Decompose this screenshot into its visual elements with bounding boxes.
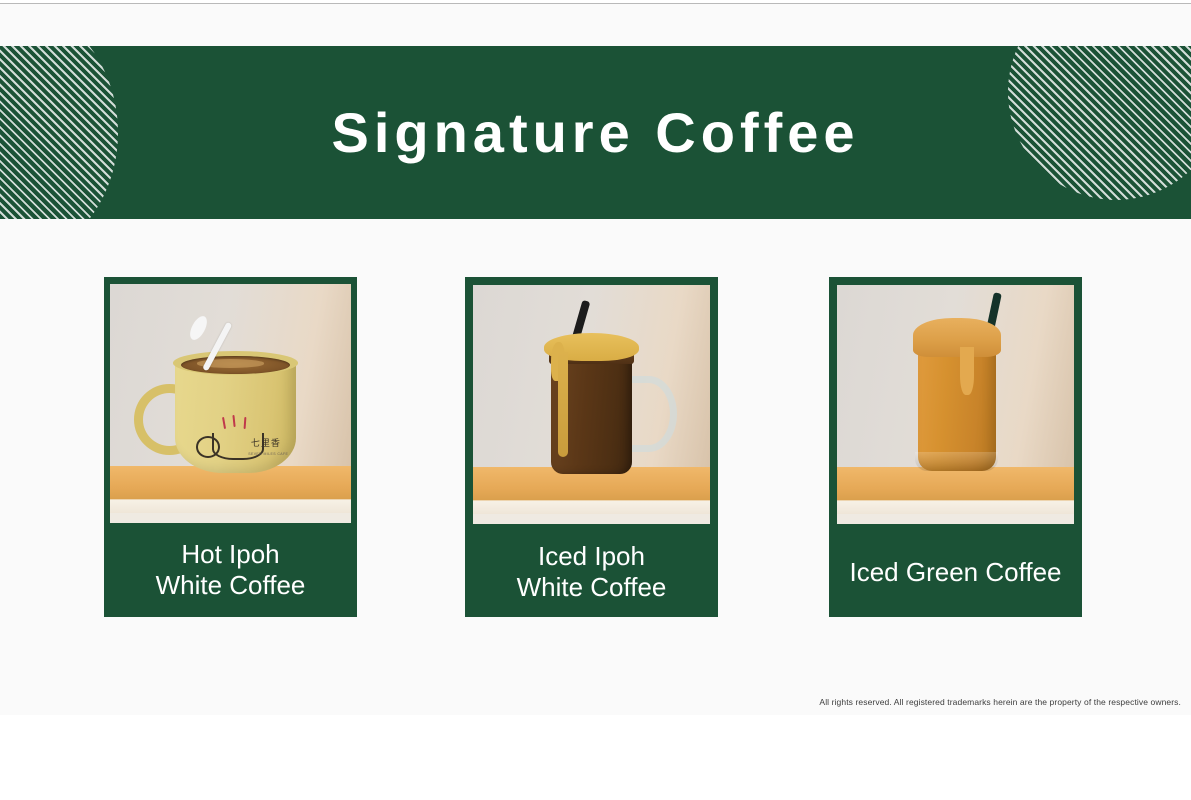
photo-scene: 七里香 SEVEN MILES CAFE <box>110 284 351 523</box>
foam-drip <box>558 352 568 457</box>
page-title: Signature Coffee <box>0 46 1191 219</box>
slide-canvas: Signature Coffee <box>0 3 1191 715</box>
copyright-footer: All rights reserved. All registered trad… <box>0 697 1181 707</box>
photo-scene <box>473 285 710 524</box>
product-photo-iced-green-coffee <box>837 285 1074 524</box>
product-label-iced-ipoh-white-coffee: Iced Ipoh White Coffee <box>465 531 718 613</box>
logo-chinese-text: 七里香 <box>251 436 287 449</box>
photo-scene <box>837 285 1074 524</box>
steam-line-icon <box>222 417 226 429</box>
product-card-grid: 七里香 SEVEN MILES CAFE Hot Ipoh White Coff… <box>0 277 1191 621</box>
product-photo-hot-ipoh-white-coffee: 七里香 SEVEN MILES CAFE <box>110 284 351 523</box>
foam-drip <box>960 347 974 395</box>
product-photo-iced-ipoh-white-coffee <box>473 285 710 524</box>
wooden-board <box>110 466 351 514</box>
foam-topping <box>913 318 1001 356</box>
product-label-line: Iced Green Coffee <box>850 557 1062 588</box>
product-label-hot-ipoh-white-coffee: Hot Ipoh White Coffee <box>104 529 357 611</box>
header-band: Signature Coffee <box>0 46 1191 219</box>
glass-base <box>915 452 998 471</box>
wooden-board <box>473 467 710 515</box>
logo-sub-text: SEVEN MILES CAFE <box>248 452 295 456</box>
mug-brand-logo: 七里香 SEVEN MILES CAFE <box>206 413 273 466</box>
product-label-line: White Coffee <box>156 570 306 601</box>
product-card-hot-ipoh-white-coffee[interactable]: 七里香 SEVEN MILES CAFE Hot Ipoh White Coff… <box>104 277 357 617</box>
product-label-line: Iced Ipoh <box>538 541 645 572</box>
product-label-line: White Coffee <box>517 572 667 603</box>
steam-line-icon <box>244 417 247 429</box>
product-label-line: Hot Ipoh <box>181 539 279 570</box>
product-card-iced-green-coffee[interactable]: Iced Green Coffee <box>829 277 1082 617</box>
steam-line-icon <box>233 415 236 427</box>
product-label-iced-green-coffee: Iced Green Coffee <box>829 531 1082 613</box>
product-card-iced-ipoh-white-coffee[interactable]: Iced Ipoh White Coffee <box>465 277 718 617</box>
wooden-board <box>837 467 1074 515</box>
